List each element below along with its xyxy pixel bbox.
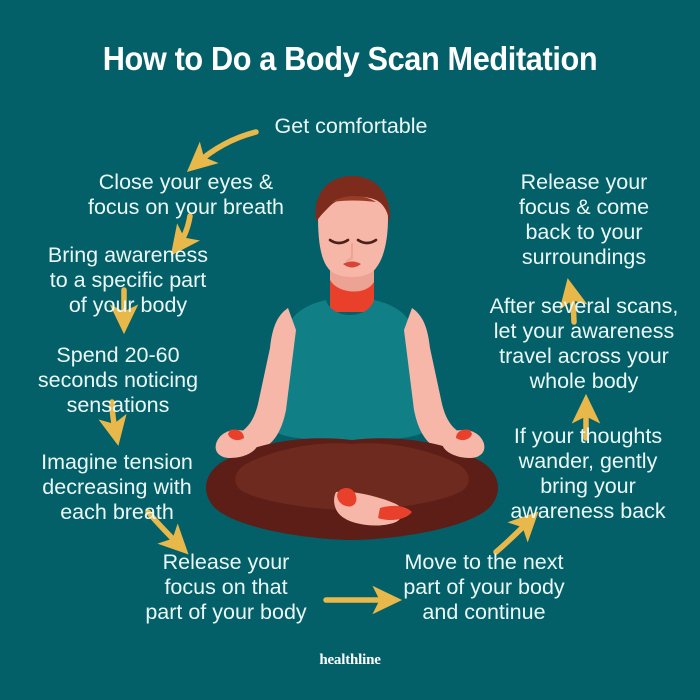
step-after-several-scans: After several scans, let your awareness … [476, 294, 692, 394]
page-title: How to Do a Body Scan Meditation [25, 40, 676, 78]
step-move-to-the-next-part: Move to the next part of your body and c… [386, 550, 582, 625]
step-if-your-thoughts-wander: If your thoughts wander, gently bring yo… [490, 424, 686, 524]
step-imagine-tension: Imagine tension decreasing with each bre… [16, 450, 218, 525]
step-release-your-focus-and-come-back: Release your focus & come back to your s… [484, 170, 684, 270]
step-get-comfortable: Get comfortable [246, 114, 456, 139]
step-release-your-focus-on-that-part: Release your focus on that part of your … [124, 550, 328, 625]
infographic-canvas: How to Do a Body Scan Meditation Get com… [0, 0, 700, 700]
step-bring-awareness: Bring awareness to a specific part of yo… [22, 243, 234, 318]
arrow-7-to-step-8 [496, 520, 530, 552]
arrow-2-to-step-3 [178, 216, 190, 246]
step-spend-20-60-seconds: Spend 20-60 seconds noticing sensations [16, 343, 220, 418]
healthline-logo: healthline [0, 652, 700, 669]
step-close-your-eyes: Close your eyes & focus on your breath [68, 170, 304, 220]
